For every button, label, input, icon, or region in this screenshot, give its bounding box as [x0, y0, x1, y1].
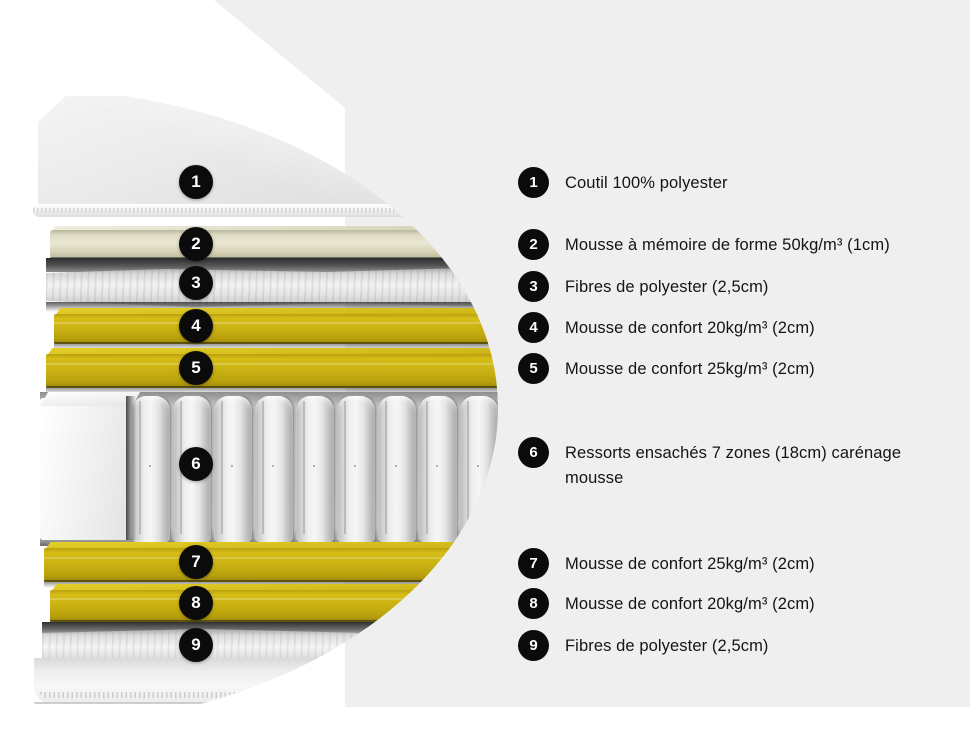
pocket-spring — [460, 396, 498, 542]
foam7-front-face — [44, 548, 500, 582]
pocket-spring — [214, 396, 252, 542]
pocket-spring — [132, 396, 170, 542]
pocket-spring — [296, 396, 334, 542]
legend-row-8: 8Mousse de confort 20kg/m³ (2cm) — [518, 588, 958, 619]
layer-comfort-foam-20kg-top — [0, 308, 500, 350]
legend-label-6: Ressorts ensachés 7 zones (18cm) carénag… — [565, 437, 958, 491]
photo-layer-badge-7: 7 — [179, 545, 213, 579]
legend-label-5: Mousse de confort 25kg/m³ (2cm) — [565, 353, 815, 382]
pocket-spring — [419, 396, 457, 542]
layer-comfort-foam-25kg-top — [0, 348, 500, 394]
photo-layer-badge-2: 2 — [179, 227, 213, 261]
legend-badge-7: 7 — [518, 548, 549, 579]
foam4-front-face — [54, 314, 500, 344]
photo-layer-badge-5: 5 — [179, 351, 213, 385]
legend-label-1: Coutil 100% polyester — [565, 167, 728, 196]
photo-layer-badge-9: 9 — [179, 628, 213, 662]
edge-block-shadow — [126, 396, 136, 540]
layer-pocket-spring-core — [0, 392, 500, 546]
photo-layer-badge-4: 4 — [179, 309, 213, 343]
legend-badge-9: 9 — [518, 630, 549, 661]
legend-row-5: 5Mousse de confort 25kg/m³ (2cm) — [518, 353, 958, 384]
photo-layer-badge-3: 3 — [179, 266, 213, 300]
pocket-spring — [337, 396, 375, 542]
legend-label-7: Mousse de confort 25kg/m³ (2cm) — [565, 548, 815, 577]
cover-piping-stitch — [33, 204, 500, 217]
legend-label-2: Mousse à mémoire de forme 50kg/m³ (1cm) — [565, 229, 890, 258]
legend-row-4: 4Mousse de confort 20kg/m³ (2cm) — [518, 312, 958, 343]
pocket-spring — [255, 396, 293, 542]
legend-label-4: Mousse de confort 20kg/m³ (2cm) — [565, 312, 815, 341]
layer-comfort-foam-25kg-bottom — [0, 542, 500, 588]
legend-badge-1: 1 — [518, 167, 549, 198]
photo-layer-badge-8: 8 — [179, 586, 213, 620]
fibre-front-face — [46, 267, 500, 307]
legend-row-3: 3Fibres de polyester (2,5cm) — [518, 271, 958, 302]
foam-edge-support-block — [40, 398, 132, 540]
legend-badge-6: 6 — [518, 437, 549, 468]
legend-badge-8: 8 — [518, 588, 549, 619]
photo-layer-badge-6: 6 — [179, 447, 213, 481]
legend-badge-3: 3 — [518, 271, 549, 302]
legend-row-2: 2Mousse à mémoire de forme 50kg/m³ (1cm) — [518, 229, 958, 260]
legend-label-8: Mousse de confort 20kg/m³ (2cm) — [565, 588, 815, 617]
foam5-front-face — [46, 354, 500, 388]
legend-badge-5: 5 — [518, 353, 549, 384]
layer-legend-list: 1Coutil 100% polyester2Mousse à mémoire … — [518, 0, 970, 729]
memory-foam-front-face — [50, 230, 500, 258]
mattress-composition-diagram: 123456789 1Coutil 100% polyester2Mousse … — [0, 0, 970, 729]
photo-layer-badge-1: 1 — [179, 165, 213, 199]
legend-label-9: Fibres de polyester (2,5cm) — [565, 630, 769, 659]
foam8-front-face — [50, 590, 500, 622]
legend-row-1: 1Coutil 100% polyester — [518, 167, 958, 198]
legend-row-9: 9Fibres de polyester (2,5cm) — [518, 630, 958, 661]
layer-polyester-fibre-top — [0, 258, 500, 314]
pocket-spring — [378, 396, 416, 542]
legend-badge-4: 4 — [518, 312, 549, 343]
legend-badge-2: 2 — [518, 229, 549, 260]
legend-row-6: 6Ressorts ensachés 7 zones (18cm) caréna… — [518, 437, 958, 491]
legend-row-7: 7Mousse de confort 25kg/m³ (2cm) — [518, 548, 958, 579]
legend-label-3: Fibres de polyester (2,5cm) — [565, 271, 769, 300]
